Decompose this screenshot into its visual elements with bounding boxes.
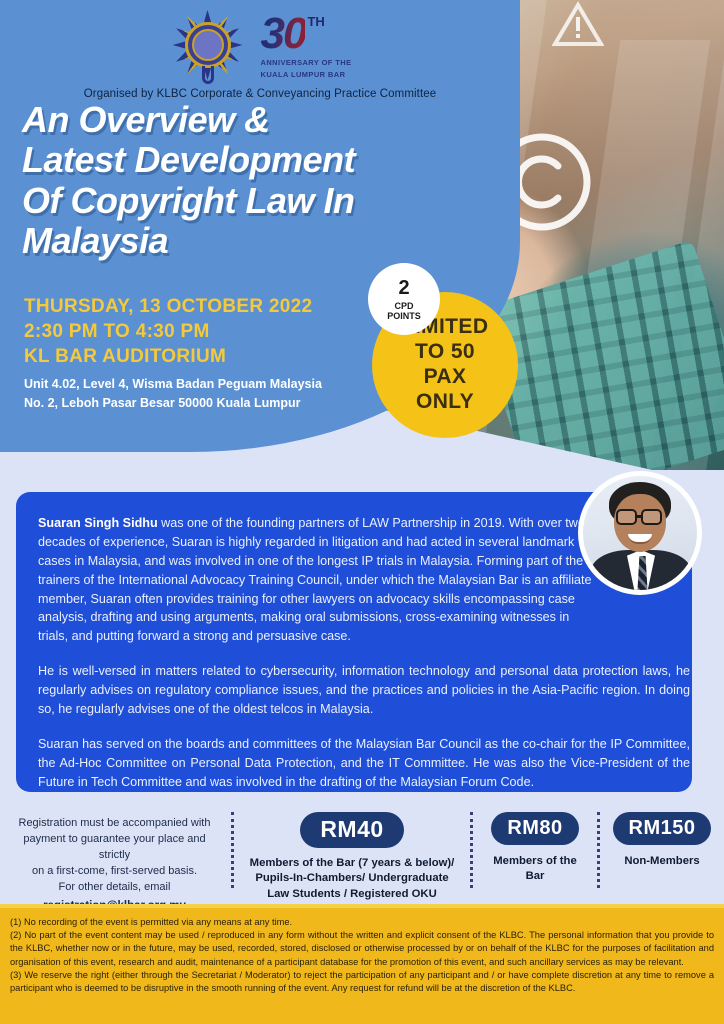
event-date: THURSDAY, 13 OCTOBER 2022 <box>24 294 312 319</box>
anniversary-number: 30 <box>261 12 306 56</box>
registration-note: Registration must be accompanied with pa… <box>0 806 231 914</box>
bio-paragraph-1-rest: was one of the founding partners of LAW … <box>38 516 592 643</box>
registration-note-line-3: on a first-come, first-served basis. <box>10 864 219 880</box>
price-description: Non-Members <box>610 854 714 869</box>
price-description: Members of the Bar <box>483 854 587 885</box>
registration-note-line-4: For other details, email <box>10 880 219 896</box>
terms-item-3: (3) We reserve the right (either through… <box>10 969 714 995</box>
event-poster: 30 TH ANNIVERSARY OF THE KUALA LUMPUR BA… <box>0 0 724 1024</box>
bio-paragraph-1: Suaran Singh Sidhu was one of the foundi… <box>38 514 596 646</box>
anniversary-subtitle-line1: ANNIVERSARY OF THE <box>261 58 352 68</box>
price-tier-3: RM150 Non-Members <box>600 806 724 869</box>
title-line-1: An Overview & <box>22 100 482 140</box>
anniversary-number-row: 30 TH <box>261 12 352 56</box>
warning-triangle-icon <box>552 0 604 48</box>
anniversary-subtitle-line2: KUALA LUMPUR BAR <box>261 70 352 80</box>
event-venue: KL BAR AUDITORIUM <box>24 344 312 369</box>
price-amount: RM40 <box>300 812 403 848</box>
terms-item-2: (2) No part of the event content may be … <box>10 929 714 969</box>
bio-paragraph-2: He is well-versed in matters related to … <box>38 662 690 719</box>
glasses-icon <box>616 509 637 525</box>
title-line-3: Of Copyright Law In <box>22 181 482 221</box>
cpd-points-number: 2 <box>398 278 409 298</box>
registration-note-line-1: Registration must be accompanied with <box>10 816 219 832</box>
terms-item-1: (1) No recording of the event is permitt… <box>10 916 714 929</box>
klbc-seal-icon <box>169 6 247 86</box>
address-line-2: No. 2, Leboh Pasar Besar 50000 Kuala Lum… <box>24 394 322 413</box>
page-title: An Overview & Latest Development Of Copy… <box>22 100 482 261</box>
price-description: Members of the Bar (7 years & below)/ Pu… <box>244 856 460 902</box>
event-time: 2:30 PM TO 4:30 PM <box>24 319 312 344</box>
title-line-2: Latest Development <box>22 140 482 180</box>
price-amount: RM150 <box>613 812 712 845</box>
limited-line-3: PAX <box>402 365 489 390</box>
seal-anchor-icon <box>202 66 214 84</box>
address-line-1: Unit 4.02, Level 4, Wisma Badan Peguam M… <box>24 375 322 394</box>
event-address: Unit 4.02, Level 4, Wisma Badan Peguam M… <box>24 375 322 413</box>
poster-header: 30 TH ANNIVERSARY OF THE KUALA LUMPUR BA… <box>0 6 520 100</box>
limited-line-4: ONLY <box>402 390 489 415</box>
cpd-points-badge: 2 CPD POINTS <box>368 263 440 335</box>
anniversary-ordinal: TH <box>307 15 324 28</box>
seal-inner-ring <box>185 22 231 68</box>
price-tier-1: RM40 Members of the Bar (7 years & below… <box>234 806 470 902</box>
cpd-label-line-2: POINTS <box>387 311 421 321</box>
limited-line-2: TO 50 <box>402 340 489 365</box>
title-line-4: Malaysia <box>22 221 482 261</box>
speaker-photo <box>583 476 697 590</box>
pricing-divider <box>231 812 234 888</box>
cpd-label-line-1: CPD <box>394 301 413 311</box>
pricing-divider <box>470 812 473 888</box>
anniversary-logo: 30 TH ANNIVERSARY OF THE KUALA LUMPUR BA… <box>261 12 352 80</box>
terms-footer: (1) No recording of the event is permitt… <box>0 904 724 1024</box>
price-amount: RM80 <box>491 812 578 845</box>
registration-note-line-2: payment to guarantee your place and stri… <box>10 832 219 864</box>
event-when-block: THURSDAY, 13 OCTOBER 2022 2:30 PM TO 4:3… <box>24 294 312 369</box>
glasses-icon <box>641 509 662 525</box>
price-tier-2: RM80 Members of the Bar <box>473 806 597 885</box>
pricing-divider <box>597 812 600 888</box>
speaker-avatar <box>578 471 702 595</box>
speaker-name: Suaran Singh Sidhu <box>38 516 158 530</box>
logo-row: 30 TH ANNIVERSARY OF THE KUALA LUMPUR BA… <box>0 6 520 86</box>
bio-paragraph-3: Suaran has served on the boards and comm… <box>38 735 690 792</box>
glasses-bridge <box>637 515 642 518</box>
pricing-row: Registration must be accompanied with pa… <box>0 806 724 898</box>
